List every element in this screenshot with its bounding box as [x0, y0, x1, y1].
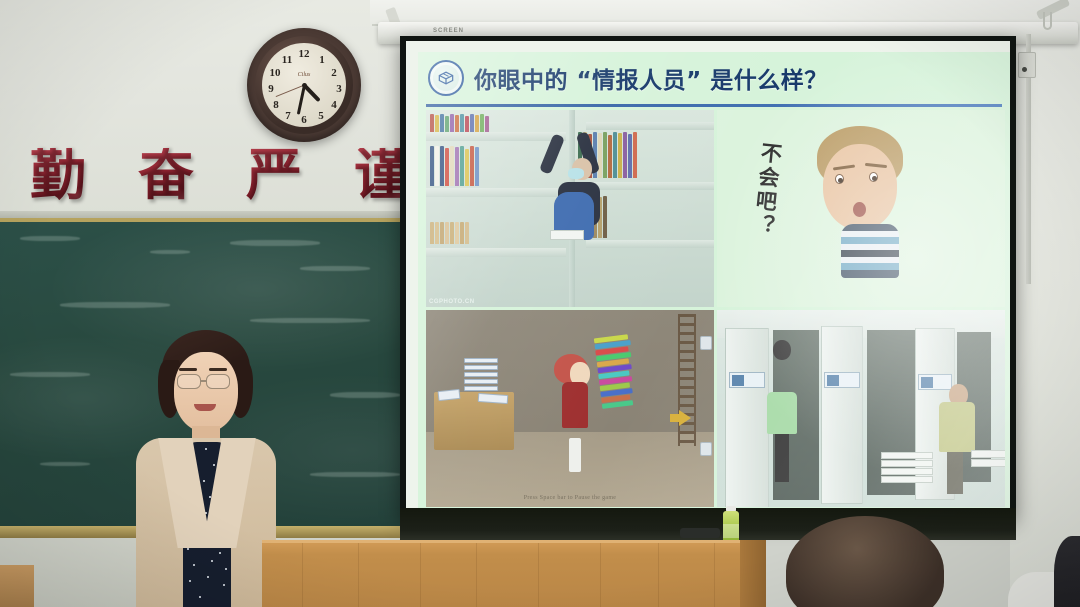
clock-num-2: 2 — [327, 67, 341, 79]
face-mask — [568, 168, 584, 179]
game-character-body — [562, 382, 588, 428]
presenter-brow-left — [179, 368, 197, 371]
slide-title: 你眼中的 “情报人员” 是什么样？ — [474, 61, 828, 95]
screen-hook — [1043, 12, 1052, 30]
clock-face: Cilus 12 1 2 3 4 5 6 7 8 9 10 11 — [262, 43, 346, 127]
clock-num-4: 4 — [327, 99, 341, 111]
clock-num-9: 9 — [264, 83, 278, 95]
bottle-label — [723, 524, 739, 538]
game-arrow-tail — [670, 414, 679, 422]
clock-num-10: 10 — [268, 67, 282, 79]
clock-num-7: 7 — [281, 110, 295, 122]
slide-panel-game-screenshot[interactable]: Press Space bar to Pause the game — [426, 310, 714, 507]
right-wall — [1010, 0, 1080, 607]
audience-member-head-2 — [1054, 536, 1080, 607]
boy-striped-shirt — [841, 224, 899, 278]
stacks-person-2-legs — [947, 452, 963, 494]
podium-right-edge — [740, 540, 766, 607]
presentation-slide[interactable]: 你眼中的 “情报人员” 是什么样？ — [418, 52, 1010, 510]
clock-num-1: 1 — [315, 54, 329, 66]
chair-back-left — [0, 565, 34, 607]
presenter-face — [174, 352, 238, 432]
slide-panel-cartoon-boy[interactable]: 不会吧？ — [717, 110, 1005, 307]
slide-image-grid: CGPHOTO.CN 不会吧？ — [426, 110, 1002, 504]
clock-num-6: 6 — [297, 114, 311, 126]
presenter-brow-right — [209, 368, 227, 371]
cartoon-speech-text: 不会吧？ — [750, 141, 783, 239]
boy-face — [823, 144, 897, 230]
motto-char-2: 奋 — [138, 148, 194, 204]
slide-header: 你眼中的 “情报人员” 是什么样？ — [418, 52, 1010, 104]
clock-num-8: 8 — [269, 99, 283, 111]
shelf-end-panel-1 — [725, 328, 769, 507]
held-books — [550, 230, 584, 240]
stacks-person-1-shirt — [767, 392, 797, 434]
motto-char-1: 勤 — [30, 148, 86, 204]
clock-num-3: 3 — [332, 83, 346, 95]
presenter-glasses-left-lens — [177, 374, 201, 389]
game-ui-button-2[interactable] — [700, 442, 712, 456]
screen-clamp — [1018, 52, 1036, 78]
game-caption: Press Space bar to Pause the game — [426, 495, 714, 501]
wall-motto: 勤 奋 严 谨 — [30, 140, 430, 212]
game-ui-button-1[interactable] — [700, 336, 712, 350]
clock-brand-label: Cilus — [298, 72, 311, 78]
library-emblem-icon — [428, 60, 464, 96]
boy-open-mouth — [853, 202, 866, 217]
clock-center-pin — [302, 83, 307, 88]
stacks-person-1-head — [773, 340, 791, 360]
boy-eye-right — [869, 172, 878, 182]
presenter-remote[interactable] — [680, 528, 720, 538]
game-ladder — [678, 314, 696, 446]
slide-panel-library-stacks[interactable] — [717, 310, 1005, 507]
clock-num-11: 11 — [280, 54, 294, 66]
wall-clock: Cilus 12 1 2 3 4 5 6 7 8 9 10 11 — [247, 28, 361, 142]
clock-num-12: 12 — [297, 48, 311, 60]
shelf-label-3 — [918, 374, 952, 390]
shelf-label-1 — [729, 372, 765, 388]
classroom-scene: Cilus 12 1 2 3 4 5 6 7 8 9 10 11 勤 奋 严 谨 — [0, 0, 1080, 607]
roller-brand-label: SCREEN — [433, 28, 464, 34]
presenter-mouth — [194, 404, 216, 411]
shelf-label-2 — [824, 372, 860, 388]
game-character-legs — [569, 438, 581, 472]
photo-watermark: CGPHOTO.CN — [429, 299, 475, 305]
clock-num-5: 5 — [314, 110, 328, 122]
stacks-person-1-legs — [775, 434, 789, 482]
clock-minute-hand — [296, 85, 305, 115]
motto-char-3: 严 — [246, 148, 302, 204]
presenter-glasses-right-lens — [206, 374, 230, 389]
presenter-glasses-bridge — [201, 380, 206, 382]
wooden-podium[interactable] — [262, 540, 762, 607]
boy-eye-left — [835, 174, 844, 184]
slide-title-rule — [426, 104, 1002, 107]
shelf-end-panel-2 — [821, 326, 863, 504]
game-next-arrow-icon[interactable] — [679, 410, 691, 426]
slide-panel-library-photo[interactable]: CGPHOTO.CN — [426, 110, 714, 307]
stacks-person-2-shirt — [939, 402, 975, 452]
